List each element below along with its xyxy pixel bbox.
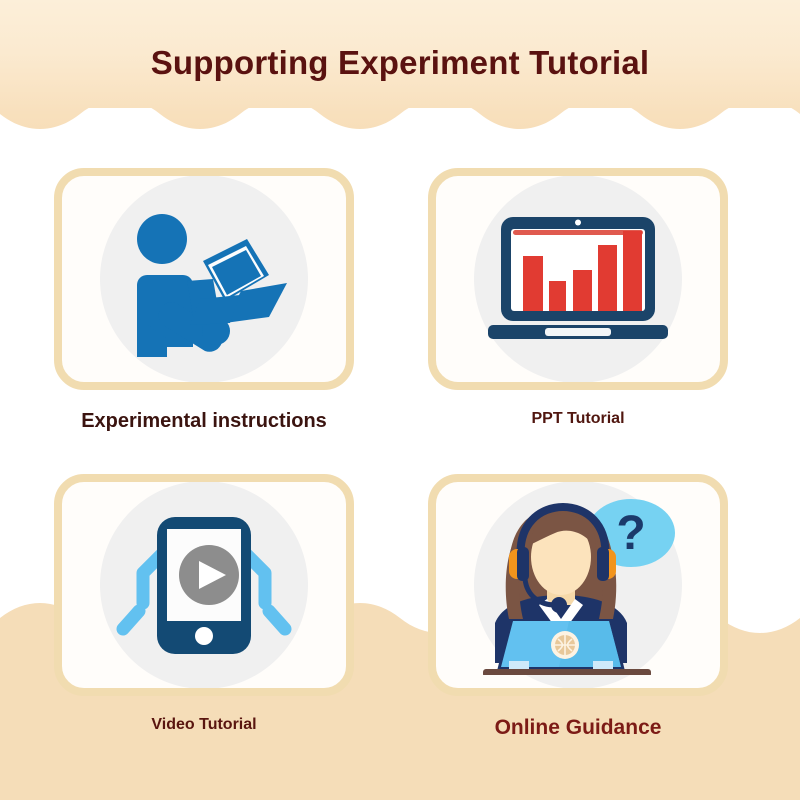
card-label: Video Tutorial [46,716,362,734]
tablet-play-button-icon [99,500,309,670]
card-frame[interactable]: ? [428,474,728,696]
card-frame[interactable] [54,168,354,390]
tutorial-card-video-tutorial[interactable]: Video Tutorial [46,468,376,768]
tutorial-card-online-guidance[interactable]: ? [420,468,750,768]
tutorial-card-experimental-instructions[interactable]: Experimental instructions [46,162,376,462]
card-frame[interactable] [54,474,354,696]
card-frame[interactable] [428,168,728,390]
page-title: Supporting Experiment Tutorial [0,44,800,82]
header-banner: Supporting Experiment Tutorial [0,0,800,150]
banner-wave-shape [0,108,800,152]
laptop-bar-chart-icon [473,194,683,364]
question-mark-glyph: ? [616,507,645,560]
poster-canvas: Supporting Experiment Tutorial [0,0,800,800]
tutorial-card-grid: Experimental instructions [0,150,800,800]
headset-support-agent-icon: ? [473,500,683,670]
card-label: PPT Tutorial [420,410,736,428]
tutorial-card-ppt-tutorial[interactable]: PPT Tutorial [420,162,750,462]
person-reading-laptop-icon [99,194,309,364]
card-label: Experimental instructions [46,410,362,433]
card-label: Online Guidance [420,716,736,740]
